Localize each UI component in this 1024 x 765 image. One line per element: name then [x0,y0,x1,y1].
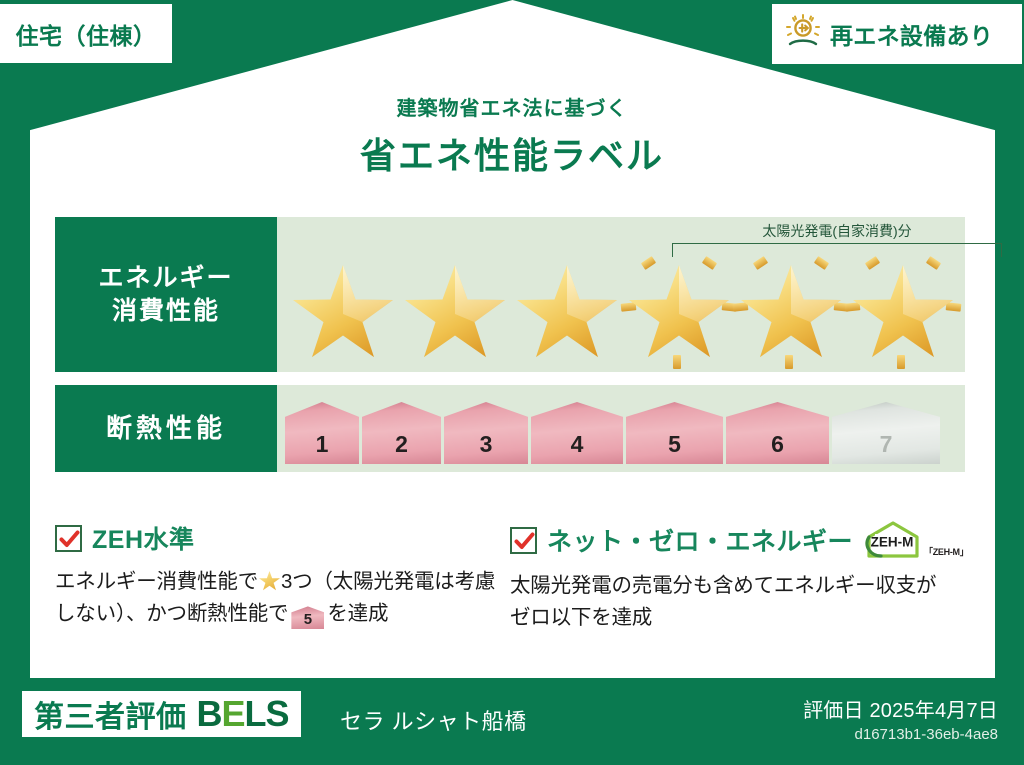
badge-renewable-label: 再エネ設備あり [830,17,993,51]
criterion-description: 太陽光発電の売電分も含めてエネルギー収支がゼロ以下を達成 [510,570,951,635]
bels-plate: 第三者評価 BELS [22,691,301,737]
insulation-label: 断熱性能 [106,411,226,445]
star-4-solar [625,257,733,361]
criterion-title: ネット・ゼロ・エネルギー [547,522,853,558]
star-6-solar [849,257,957,361]
criterion-text-part3: を達成 [327,602,388,625]
criteria-section: ZEH水準 エネルギー消費性能で3つ（太陽光発電は考慮しない）、かつ断熱性能で5… [55,520,965,635]
star-rating [277,251,965,367]
footer: 第三者評価 BELS セラ ルシャト船橋 評価日 2025年4月7日 d1671… [0,678,1024,765]
evaluation-id: d16713b1-36eb-4ae8 [803,726,998,743]
evaluation-date: 評価日 2025年4月7日 [803,694,998,723]
building-name: セラ ルシャト船橋 [340,704,527,736]
star-3 [513,257,621,361]
inline-grade-badge: 5 [291,606,324,629]
energy-performance-row: エネルギー 消費性能 太陽光発電(自家消費)分 [55,217,965,372]
energy-performance-label: 住宅（住棟） 再エネ設備あり [0,0,1024,765]
energy-label-line1: エネルギー [98,262,233,295]
solar-annotation: 太陽光発電(自家消費)分 [672,221,1002,257]
bels-letter-e: E [222,693,245,734]
badge-dwelling-type: 住宅（住棟） [0,4,172,63]
third-party-eval-label: 第三者評価 [34,692,187,736]
zeh-m-logo: ZEH-M 「ZEH-M」 [865,520,968,560]
criterion-text-part1: エネルギー消費性能で [55,570,258,593]
criterion-description: エネルギー消費性能で3つ（太陽光発電は考慮しない）、かつ断熱性能で5を達成 [55,566,496,631]
grade-badge-3: 3 [444,402,528,464]
grade-badge-5: 5 [626,402,723,464]
star-5-solar [737,257,845,361]
grade-badge-1: 1 [285,402,359,464]
badge-renewable-energy: 再エネ設備あり [772,4,1022,64]
star-2 [401,257,509,361]
grade-scale: 1 2 3 4 5 6 7 [277,392,965,464]
criterion-header: ZEH水準 [55,520,496,556]
zeh-m-house-icon: ZEH-M [865,520,921,560]
bels-letters-ls: LS [245,693,289,734]
criterion-zeh-standard: ZEH水準 エネルギー消費性能で3つ（太陽光発電は考慮しない）、かつ断熱性能で5… [55,520,510,635]
criterion-net-zero-energy: ネット・ゼロ・エネルギー ZEH-M 「ZEH-M」 太陽光発電の売電分も含めて… [510,520,965,635]
bels-logo: BELS [197,693,289,735]
zeh-m-caption: 「ZEH-M」 [924,545,968,560]
label-title-block: 建築物省エネ法に基づく 省エネ性能ラベル [0,92,1024,179]
grade-badge-6: 6 [726,402,829,464]
bels-letter-b: B [197,693,222,734]
grade-badge-7: 7 [832,402,940,464]
star-1 [289,257,397,361]
check-icon [55,525,82,552]
evaluation-meta: 評価日 2025年4月7日 d16713b1-36eb-4ae8 [803,694,998,743]
insulation-performance-label-cell: 断熱性能 [55,385,277,472]
svg-text:ZEH-M: ZEH-M [871,535,914,550]
grade-badge-2: 2 [362,402,441,464]
energy-performance-label-cell: エネルギー 消費性能 [55,217,277,372]
energy-label-line2: 消費性能 [112,295,220,328]
grade-badge-4: 4 [531,402,623,464]
badge-dwelling-label: 住宅（住棟） [16,17,157,51]
solar-bracket [672,243,1002,257]
insulation-performance-row: 断熱性能 1 2 3 4 5 6 7 [55,385,965,472]
page-title: 省エネ性能ラベル [0,127,1024,179]
title-subtitle: 建築物省エネ法に基づく [0,92,1024,121]
criterion-header: ネット・ゼロ・エネルギー ZEH-M 「ZEH-M」 [510,520,951,560]
star-icon [259,571,280,591]
insulation-grade-area: 1 2 3 4 5 6 7 [277,385,965,472]
energy-rating-area: 太陽光発電(自家消費)分 [277,217,965,372]
criterion-title: ZEH水準 [92,520,195,556]
solar-annotation-label: 太陽光発電(自家消費)分 [672,221,1002,241]
check-icon [510,527,537,554]
solar-sun-icon [784,14,822,55]
